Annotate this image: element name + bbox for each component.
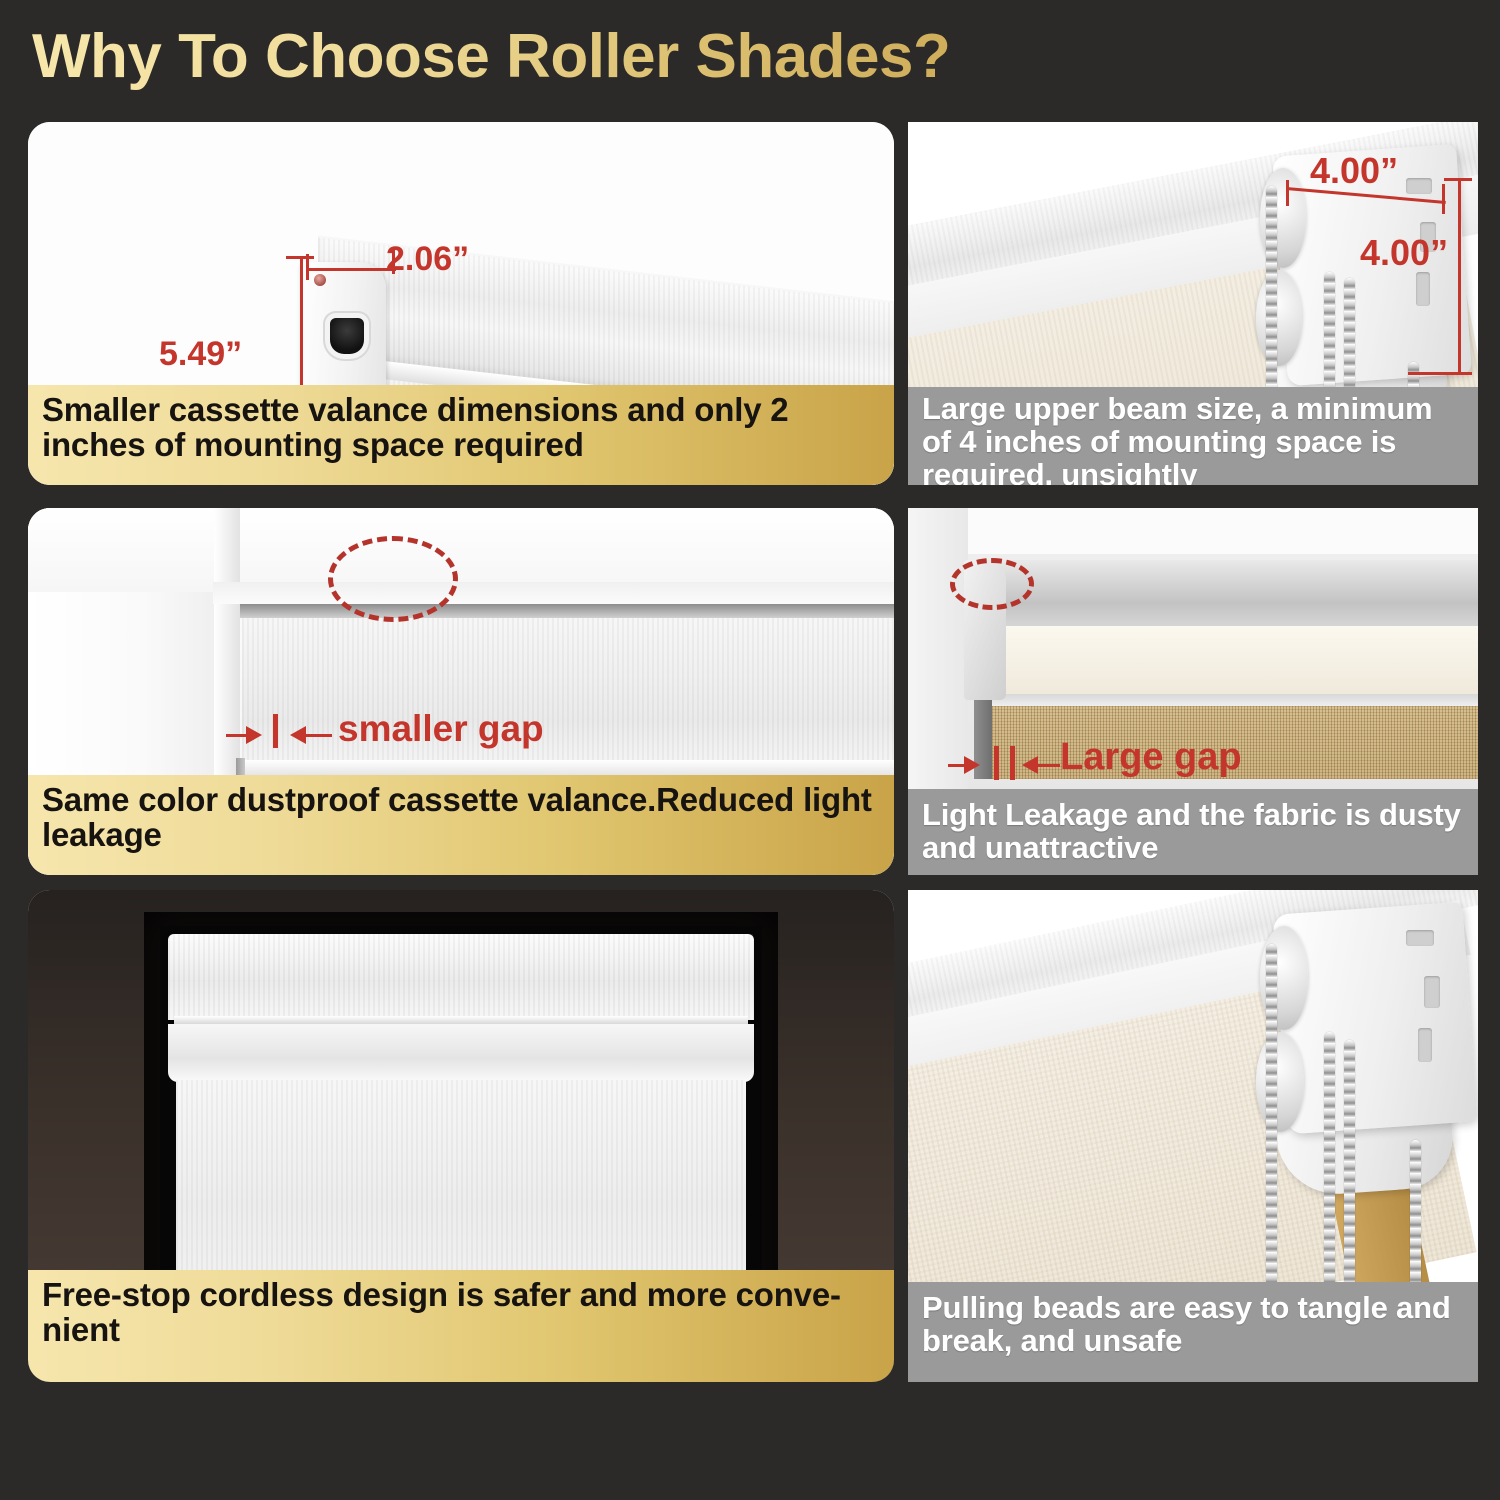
panel-caption: Free-stop cordless design is safer and m… — [28, 1270, 894, 1382]
panel-good-smaller-gap: smaller gap Same color dustproof cassett… — [28, 508, 894, 875]
height-dim-tick-top — [286, 256, 314, 259]
panel-caption: Same color dustproof cassette valance.Re… — [28, 775, 894, 875]
height-dimension-label: 5.49” — [159, 335, 242, 374]
panel-caption: Light Leakage and the fabric is dusty an… — [908, 789, 1478, 875]
panel-bad-large-beam: 4.00” 4.00” Large upper beam size, a min… — [908, 122, 1478, 485]
infographic-page: Why To Choose Roller Shades? 2.06” 5.49” — [0, 0, 1500, 1500]
highlight-ellipse-icon — [328, 536, 458, 622]
width-dimension-label: 2.06” — [386, 240, 469, 279]
large-gap-label: Large gap — [1060, 736, 1242, 779]
panel-bad-pull-beads: Pulling beads are easy to tangle and bre… — [908, 890, 1478, 1382]
beam-height-dim-line — [1458, 178, 1461, 374]
beam-height-dimension-label: 4.00” — [1360, 232, 1448, 274]
panel-bad-large-gap: Large gap Light Leakage and the fabric i… — [908, 508, 1478, 875]
gap-arrow-left-icon — [1022, 756, 1038, 774]
highlight-ellipse-icon — [950, 558, 1034, 610]
panel-caption: Large upper beam size, a minimum of 4 in… — [908, 387, 1478, 485]
panel-good-cassette-dimensions: 2.06” 5.49” Smaller cassette valance dim… — [28, 122, 894, 485]
panel-good-cordless: Free-stop cordless design is safer and m… — [28, 890, 894, 1382]
page-title: Why To Choose Roller Shades? — [32, 18, 1132, 96]
smaller-gap-label: smaller gap — [338, 708, 544, 750]
gap-arrow-left-icon — [290, 726, 306, 744]
width-dimension-line — [306, 268, 396, 271]
beam-width-dimension-label: 4.00” — [1310, 150, 1398, 192]
panel-caption: Smaller cassette valance dimensions and … — [28, 385, 894, 485]
panel-caption: Pulling beads are easy to tangle and bre… — [908, 1282, 1478, 1382]
